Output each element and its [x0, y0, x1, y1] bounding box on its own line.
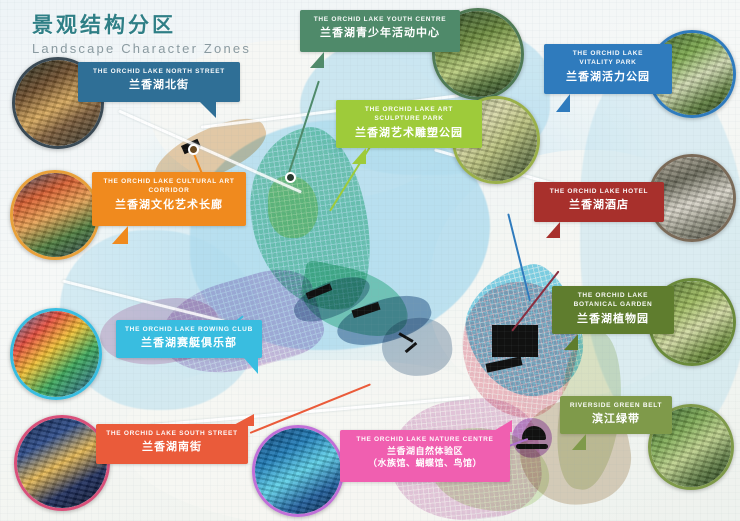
page-title-cn: 景观结构分区 [32, 14, 251, 37]
leader-dot-youth-centre [285, 172, 296, 183]
callout-hotel[interactable]: THE ORCHID LAKE HOTEL 兰香湖酒店 [534, 182, 664, 222]
callout-sculpture-park-en: THE ORCHID LAKE ART SCULPTURE PARK [344, 105, 474, 124]
landscape-character-zones-board: 景观结构分区 Landscape Character Zones [0, 0, 740, 521]
callout-rowing-club[interactable]: THE ORCHID LAKE ROWING CLUB 兰香湖赛艇俱乐部 [116, 320, 262, 358]
callout-south-street-cn: 兰香湖南街 [104, 440, 240, 454]
callout-botanical-garden-cn: 兰香湖植物园 [560, 312, 666, 326]
callout-vitality-park-en: THE ORCHID LAKE VITALITY PARK [552, 49, 664, 68]
callout-botanical-garden[interactable]: THE ORCHID LAKE BOTANICAL GARDEN 兰香湖植物园 [552, 286, 674, 334]
page-title-en: Landscape Character Zones [32, 41, 251, 56]
rowing-club-photo[interactable] [10, 308, 102, 400]
callout-rowing-club-en: THE ORCHID LAKE ROWING CLUB [124, 325, 254, 334]
callout-north-street-tail [200, 102, 216, 118]
page-title: 景观结构分区 Landscape Character Zones [32, 14, 251, 56]
callout-green-belt-en: RIVERSIDE GREEN BELT [568, 401, 664, 410]
nature-centre-photo[interactable] [252, 425, 344, 517]
callout-north-street[interactable]: THE ORCHID LAKE NORTH STREET 兰香湖北街 [78, 62, 240, 102]
callout-nature-centre[interactable]: THE ORCHID LAKE NATURE CENTRE 兰香湖自然体验区 （… [340, 430, 510, 482]
callout-youth-centre-en: THE ORCHID LAKE YOUTH CENTRE [308, 15, 452, 24]
callout-sculpture-park-cn: 兰香湖艺术雕塑公园 [344, 126, 474, 140]
callout-nature-centre-en: THE ORCHID LAKE NATURE CENTRE [348, 435, 502, 444]
callout-youth-centre-tail [310, 52, 324, 68]
callout-hotel-en: THE ORCHID LAKE HOTEL [542, 187, 656, 196]
callout-cultural-corridor-en: THE ORCHID LAKE CULTURAL ART CORRIDOR [100, 177, 238, 196]
callout-vitality-park-tail [556, 94, 570, 112]
callout-nature-centre-tail [492, 420, 512, 432]
callout-green-belt[interactable]: RIVERSIDE GREEN BELT 滨江绿带 [560, 396, 672, 434]
callout-vitality-park[interactable]: THE ORCHID LAKE VITALITY PARK 兰香湖活力公园 [544, 44, 672, 94]
callout-sculpture-park-tail [352, 148, 366, 164]
callout-north-street-cn: 兰香湖北街 [86, 78, 232, 92]
callout-south-street-en: THE ORCHID LAKE SOUTH STREET [104, 429, 240, 438]
callout-rowing-club-tail [244, 358, 258, 374]
callout-green-belt-tail [572, 434, 586, 450]
callout-south-street-tail [232, 414, 254, 426]
callout-green-belt-cn: 滨江绿带 [568, 412, 664, 426]
callout-youth-centre[interactable]: THE ORCHID LAKE YOUTH CENTRE 兰香湖青少年活动中心 [300, 10, 460, 52]
cultural-corridor-photo[interactable] [10, 170, 100, 260]
botanical-building-mark [492, 325, 538, 357]
callout-hotel-tail [546, 222, 560, 238]
callout-nature-centre-cn: 兰香湖自然体验区 （水族馆、蝴蝶馆、鸟馆） [348, 446, 502, 469]
callout-botanical-garden-tail [564, 334, 578, 350]
callout-rowing-club-cn: 兰香湖赛艇俱乐部 [124, 336, 254, 350]
callout-hotel-cn: 兰香湖酒店 [542, 198, 656, 212]
leader-dot-cultural-corridor [188, 144, 199, 155]
callout-youth-centre-cn: 兰香湖青少年活动中心 [308, 26, 452, 40]
callout-sculpture-park[interactable]: THE ORCHID LAKE ART SCULPTURE PARK 兰香湖艺术… [336, 100, 482, 148]
callout-cultural-corridor[interactable]: THE ORCHID LAKE CULTURAL ART CORRIDOR 兰香… [92, 172, 246, 226]
callout-cultural-corridor-cn: 兰香湖文化艺术长廊 [100, 198, 238, 212]
callout-south-street[interactable]: THE ORCHID LAKE SOUTH STREET 兰香湖南街 [96, 424, 248, 464]
callout-botanical-garden-en: THE ORCHID LAKE BOTANICAL GARDEN [560, 291, 666, 310]
callout-vitality-park-cn: 兰香湖活力公园 [552, 70, 664, 84]
callout-north-street-en: THE ORCHID LAKE NORTH STREET [86, 67, 232, 76]
callout-cultural-corridor-tail [112, 226, 128, 244]
